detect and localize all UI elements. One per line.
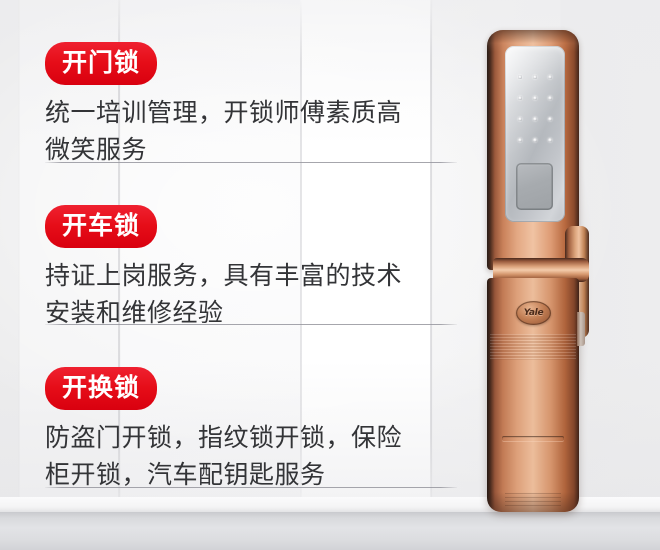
keypad-dot-grid (513, 66, 557, 150)
keypad-dot (548, 138, 552, 142)
lock-brushed-band (490, 334, 576, 360)
service-description-change-lock: 防盗门开锁，指纹锁开锁，保险 柜开锁，汽车配钥匙服务 (45, 419, 455, 493)
section-divider-2 (45, 324, 457, 325)
keypad-dot (533, 75, 537, 79)
service-item-change-lock: 开换锁 防盗门开锁，指纹锁开锁，保险 柜开锁，汽车配钥匙服务 (45, 367, 455, 493)
section-divider-1 (45, 162, 457, 163)
promo-poster: 开门锁 统一培训管理，开锁师傅素质高 微笑服务 开车锁 持证上岗服务，具有丰富的… (0, 0, 660, 550)
keypad-dot (548, 96, 552, 100)
service-badge-open-door-lock: 开门锁 (45, 42, 157, 85)
smart-door-lock-product: Yale (487, 30, 595, 512)
section-divider-3 (45, 487, 457, 488)
service-item-open-car-lock: 开车锁 持证上岗服务，具有丰富的技术 安装和维修经验 (45, 205, 455, 331)
yale-brand-label: Yale (524, 309, 544, 318)
keypad-dot (533, 138, 537, 142)
key-slot (502, 436, 564, 441)
keypad-panel (505, 46, 565, 222)
lock-latch-nub (577, 312, 585, 346)
keypad-dot (518, 138, 522, 142)
lock-lower-escutcheon: Yale (487, 278, 579, 512)
service-description-open-door-lock: 统一培训管理，开锁师傅素质高 微笑服务 (45, 94, 455, 168)
keypad-dot (518, 96, 522, 100)
keypad-dot (533, 96, 537, 100)
service-badge-change-lock: 开换锁 (45, 367, 157, 410)
service-item-open-door-lock: 开门锁 统一培训管理，开锁师傅素质高 微笑服务 (45, 42, 455, 168)
keypad-dot (548, 75, 552, 79)
service-badge-open-car-lock: 开车锁 (45, 205, 157, 248)
keypad-dot (533, 117, 537, 121)
yale-brand-badge: Yale (516, 301, 551, 325)
lock-bottom-bevel (487, 492, 579, 512)
keypad-dot (548, 117, 552, 121)
keypad-dot (518, 75, 522, 79)
fingerprint-reader (516, 163, 553, 210)
keypad-dot (518, 117, 522, 121)
service-description-open-car-lock: 持证上岗服务，具有丰富的技术 安装和维修经验 (45, 257, 455, 331)
service-list: 开门锁 统一培训管理，开锁师傅素质高 微笑服务 开车锁 持证上岗服务，具有丰富的… (0, 0, 470, 515)
